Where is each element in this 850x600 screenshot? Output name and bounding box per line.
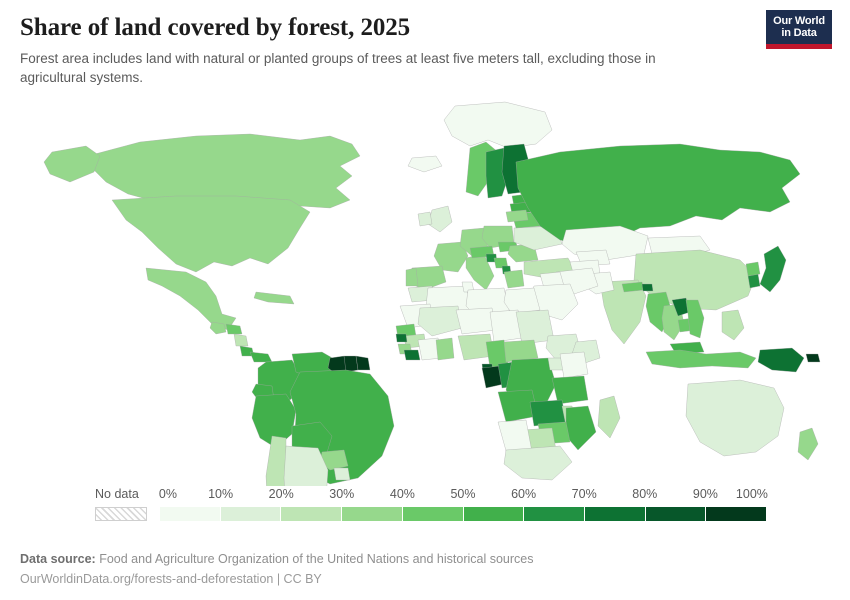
country-portugal[interactable] — [406, 268, 418, 286]
legend-tick-80pct: 80% — [632, 487, 657, 501]
legend-tick-50pct: 50% — [450, 487, 475, 501]
legend-no-data-swatch[interactable] — [95, 507, 147, 521]
legend-tick-10pct: 10% — [208, 487, 233, 501]
map-legend: No data 0%10%20%30%40%50%60%70%80%90%100… — [0, 487, 850, 542]
legend-bin-9[interactable] — [706, 507, 766, 521]
country-ghana[interactable] — [436, 338, 454, 360]
legend-bin-4[interactable] — [403, 507, 464, 521]
chart-page: Share of land covered by forest, 2025 Fo… — [0, 0, 850, 600]
country-suriname[interactable] — [344, 356, 358, 372]
chart-header: Share of land covered by forest, 2025 Fo… — [0, 0, 850, 88]
legend-tick-60pct: 60% — [511, 487, 536, 501]
legend-no-data-label: No data — [95, 487, 139, 501]
owid-logo-line2: in Data — [781, 27, 816, 39]
country-indonesia[interactable] — [646, 350, 756, 368]
country-japan[interactable] — [760, 246, 786, 292]
legend-tick-0pct: 0% — [159, 487, 177, 501]
world-map-svg[interactable] — [0, 96, 850, 486]
country-south-africa[interactable] — [504, 446, 572, 480]
country-lithuania[interactable] — [506, 210, 528, 222]
country-nepal[interactable] — [622, 282, 644, 292]
country-iceland[interactable] — [408, 156, 442, 172]
country-greenland[interactable] — [444, 102, 552, 148]
data-source-line: Data source: Food and Agriculture Organi… — [20, 549, 830, 569]
legend-bin-2[interactable] — [281, 507, 342, 521]
country-australia[interactable] — [686, 380, 784, 456]
country-ireland[interactable] — [418, 212, 432, 226]
country-papua-new-guinea[interactable] — [758, 348, 804, 372]
country-mozambique[interactable] — [566, 406, 596, 450]
country-united-kingdom[interactable] — [428, 206, 452, 232]
legend-tick-70pct: 70% — [572, 487, 597, 501]
owid-logo-accent-bar — [766, 44, 832, 49]
country-madagascar[interactable] — [598, 396, 620, 438]
page-subtitle: Forest area includes land with natural o… — [20, 49, 720, 88]
country-nicaragua[interactable] — [234, 334, 248, 346]
country-layer — [44, 102, 820, 486]
data-source-label: Data source: — [20, 552, 96, 566]
legend-bin-6[interactable] — [524, 507, 585, 521]
country-liberia[interactable] — [404, 350, 420, 360]
country-alaska[interactable] — [44, 146, 100, 182]
legend-bin-0[interactable] — [160, 507, 221, 521]
country-tanzania[interactable] — [552, 376, 588, 404]
owid-logo[interactable]: Our Worldin Data — [766, 10, 832, 49]
data-source-text: Food and Agriculture Organization of the… — [99, 552, 533, 566]
country-greece[interactable] — [504, 270, 524, 288]
country-new-zealand[interactable] — [798, 428, 818, 460]
legend-bin-3[interactable] — [342, 507, 403, 521]
country-mali[interactable] — [418, 306, 462, 336]
legend-bin-7[interactable] — [585, 507, 646, 521]
legend-tick-labels: 0%10%20%30%40%50%60%70%80%90%100% — [160, 487, 766, 505]
country-guatemala[interactable] — [210, 322, 226, 334]
owid-logo-line1: Our World — [773, 15, 825, 27]
world-map[interactable] — [0, 96, 850, 486]
source-url-line[interactable]: OurWorldinData.org/forests-and-deforesta… — [20, 569, 830, 589]
legend-tick-30pct: 30% — [329, 487, 354, 501]
country-russia[interactable] — [516, 144, 800, 246]
country-kenya[interactable] — [560, 352, 588, 378]
page-title: Share of land covered by forest, 2025 — [20, 14, 830, 43]
country-egypt[interactable] — [504, 288, 540, 314]
country-north-korea[interactable] — [746, 262, 760, 276]
legend-tick-100pct: 100% — [736, 487, 768, 501]
country-south-korea[interactable] — [748, 274, 760, 288]
legend-bin-1[interactable] — [221, 507, 282, 521]
country-united-states[interactable] — [112, 196, 310, 272]
country-guinea-bissau[interactable] — [396, 334, 407, 342]
country-cuba[interactable] — [254, 292, 294, 304]
country-mexico[interactable] — [146, 268, 236, 330]
country-uruguay[interactable] — [334, 468, 350, 480]
country-panama[interactable] — [250, 352, 272, 362]
chart-footer: Data source: Food and Agriculture Organi… — [20, 549, 830, 589]
country-solomon-islands[interactable] — [806, 354, 820, 362]
legend-bin-5[interactable] — [464, 507, 525, 521]
legend-bin-8[interactable] — [646, 507, 707, 521]
country-philippines[interactable] — [722, 310, 744, 340]
country-bhutan[interactable] — [642, 284, 653, 291]
owid-logo-text: Our Worldin Data — [770, 15, 828, 44]
legend-color-bar[interactable] — [160, 507, 766, 521]
country-french-guiana[interactable] — [356, 356, 370, 370]
legend-tick-40pct: 40% — [390, 487, 415, 501]
country-zambia[interactable] — [530, 400, 566, 426]
country-honduras[interactable] — [226, 324, 242, 334]
legend-tick-90pct: 90% — [693, 487, 718, 501]
legend-tick-20pct: 20% — [269, 487, 294, 501]
